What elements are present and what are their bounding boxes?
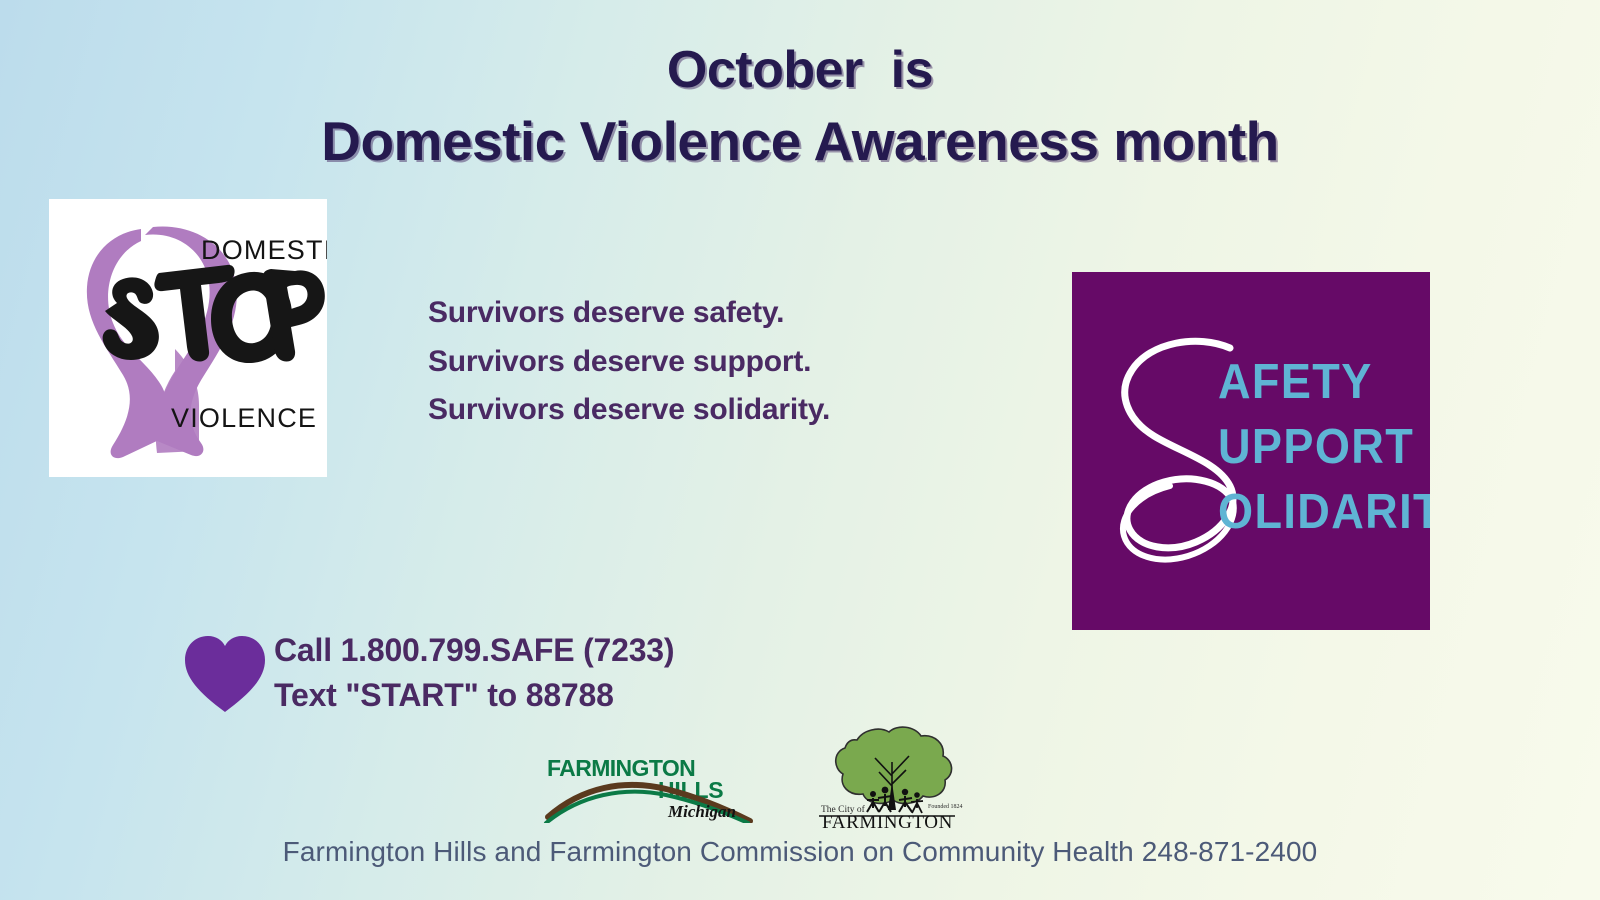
cf-logo-founded: Founded 1824 <box>928 804 963 810</box>
sss-word-solidarity: OLIDARITY <box>1218 480 1430 545</box>
hotline-block: Call 1.800.799.SAFE (7233) Text "START" … <box>182 628 822 720</box>
headline-line-2: Domestic Violence Awareness month <box>0 105 1600 178</box>
message-line-1: Survivors deserve safety. <box>428 289 988 338</box>
cf-logo-name: FARMINGTON <box>822 812 953 828</box>
footer-contact: Farmington Hills and Farmington Commissi… <box>0 836 1600 868</box>
stop-logo-word-bottom: VIOLENCE <box>171 403 317 433</box>
stop-logo-word-top: DOMESTIC <box>201 235 327 265</box>
stop-domestic-violence-logo: DOMESTIC VIOLENCE <box>49 199 327 477</box>
sss-word-safety: AFETY <box>1218 350 1430 415</box>
message-line-2: Survivors deserve support. <box>428 338 988 387</box>
sss-word-support: UPPORT <box>1218 415 1430 480</box>
message-line-3: Survivors deserve solidarity. <box>428 386 988 435</box>
hotline-call-line: Call 1.800.799.SAFE (7233) <box>274 628 674 673</box>
heart-icon <box>182 632 268 718</box>
headline-line-1: October is <box>0 36 1600 105</box>
fh-logo-script: Michigan <box>667 802 736 821</box>
sss-word-list: AFETY UPPORT OLIDARITY <box>1218 350 1430 545</box>
hotline-text-line: Text "START" to 88788 <box>274 673 674 718</box>
tree-icon <box>836 727 952 810</box>
safety-support-solidarity-panel: AFETY UPPORT OLIDARITY <box>1072 272 1430 630</box>
farmington-hills-logo: FARMINGTON HILLS Michigan <box>540 753 758 823</box>
page-title: October isDomestic Violence Awareness mo… <box>0 36 1600 177</box>
city-of-farmington-logo: The City of Founded 1824 FARMINGTON <box>805 722 967 828</box>
survivor-message: Survivors deserve safety. Survivors dese… <box>428 289 988 435</box>
hotline-text: Call 1.800.799.SAFE (7233) Text "START" … <box>274 628 674 719</box>
